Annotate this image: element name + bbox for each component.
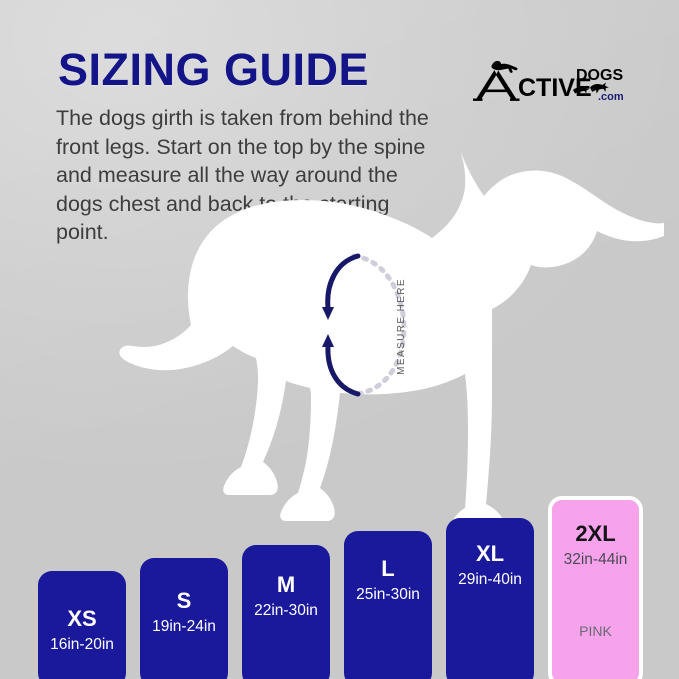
size-range: 22in-30in	[254, 603, 318, 619]
logo-text-dogs: DOGS	[576, 67, 623, 84]
girth-arrowhead-up	[322, 334, 334, 347]
size-note: PINK	[579, 624, 612, 638]
page-title: SIZING GUIDE	[58, 47, 369, 92]
girth-arrow-upper	[328, 256, 358, 308]
girth-arrowhead-down	[322, 307, 334, 320]
size-code: XL	[476, 543, 504, 565]
size-box-s[interactable]: S19in-24in	[140, 558, 228, 679]
size-box-xl[interactable]: XL29in-40in	[446, 518, 534, 679]
size-range: 19in-24in	[152, 619, 216, 635]
size-range: 29in-40in	[458, 572, 522, 588]
measure-here-label: MEASURE HERE	[396, 278, 407, 375]
size-code: L	[381, 558, 394, 580]
size-code: M	[277, 574, 295, 596]
size-range: 32in-44in	[564, 552, 628, 568]
size-box-m[interactable]: M22in-30in	[242, 545, 330, 679]
activedogs-logo: CTIVE DOGS .com	[472, 54, 632, 106]
logo-text-com: .com	[598, 91, 624, 103]
size-code: 2XL	[575, 523, 615, 545]
size-code: XS	[67, 608, 96, 630]
size-box-2xl[interactable]: 2XL32in-44inPINK	[548, 496, 643, 679]
size-range: 16in-20in	[50, 637, 114, 653]
size-code: S	[177, 590, 192, 612]
girth-measure-indicator	[318, 240, 438, 410]
sizing-guide-infographic: SIZING GUIDE The dogs girth is taken fro…	[0, 0, 679, 679]
size-range: 25in-30in	[356, 587, 420, 603]
girth-arrows-artwork	[318, 240, 438, 410]
logo-artwork: CTIVE DOGS .com	[472, 54, 632, 106]
size-box-l[interactable]: L25in-30in	[344, 531, 432, 679]
size-box-xs[interactable]: XS16in-20in	[38, 571, 126, 679]
girth-arrow-lower	[328, 346, 358, 394]
